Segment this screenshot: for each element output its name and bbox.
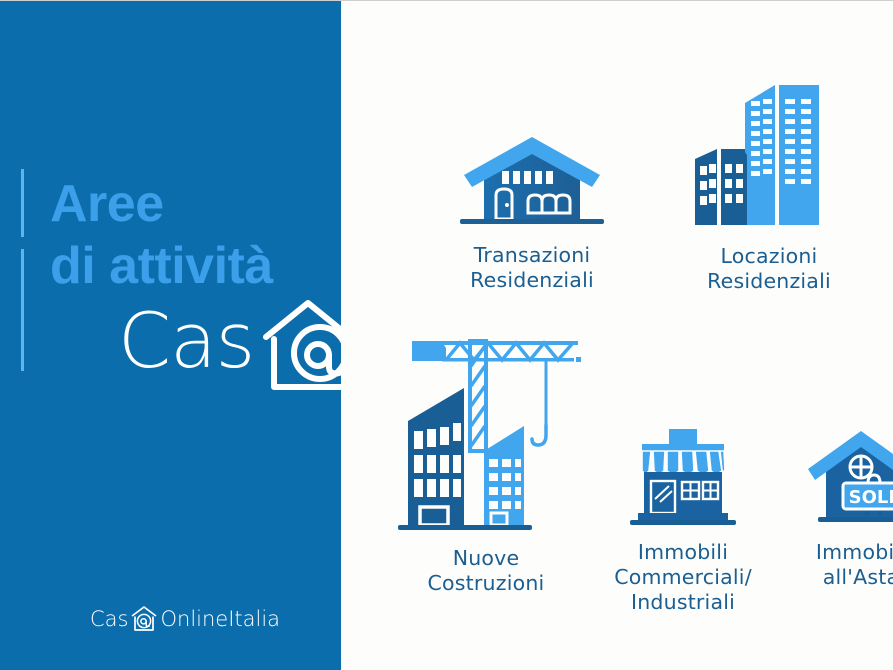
page-title: Aree di attività	[50, 173, 341, 297]
activity-item-locazioni-residenziali[interactable]: Locazioni Residenziali	[641, 59, 893, 294]
brand-lockup: Cas OnlineItalia	[90, 605, 280, 633]
house-outline-icon	[129, 605, 159, 633]
activity-item-label: Immobili Commerciali/ Industriali	[583, 540, 783, 615]
activity-areas-grid: Transazioni Residenziali	[341, 1, 893, 670]
activity-item-immobili-all-asta[interactable]: SOLD Immobili all'Asta	[761, 425, 893, 590]
activity-item-label: Immobili all'Asta	[761, 540, 893, 590]
activity-item-immobili-commerciali-industriali[interactable]: Immobili Commerciali/ Industriali	[583, 425, 783, 615]
apartment-towers-icon	[689, 59, 849, 234]
storefront-icon	[624, 425, 742, 530]
house-outline-icon	[260, 297, 341, 393]
icon-container: SOLD	[761, 425, 893, 530]
icon-container	[641, 59, 893, 234]
watermark-logo: Cas	[118, 297, 341, 393]
sold-sign-text: SOLD	[849, 487, 893, 508]
sold-house-icon: SOLD	[802, 425, 893, 530]
watermark-logo-text: Cas	[118, 301, 254, 381]
accent-bar-top	[21, 169, 24, 237]
brand-text-after: OnlineItalia	[160, 607, 280, 631]
left-panel: Aree di attività Cas Cas OnlineItali	[0, 1, 341, 670]
house-icon	[458, 133, 606, 233]
icon-container	[583, 425, 783, 530]
brand-text-before: Cas	[90, 607, 128, 631]
activity-item-label: Locazioni Residenziali	[641, 244, 893, 294]
accent-bar-bottom	[21, 249, 24, 371]
page-title-line-2: di attività	[50, 235, 341, 297]
construction-crane-icon	[386, 331, 586, 536]
slide-canvas: Aree di attività Cas Cas OnlineItali	[0, 0, 893, 670]
page-title-line-1: Aree	[50, 173, 341, 235]
